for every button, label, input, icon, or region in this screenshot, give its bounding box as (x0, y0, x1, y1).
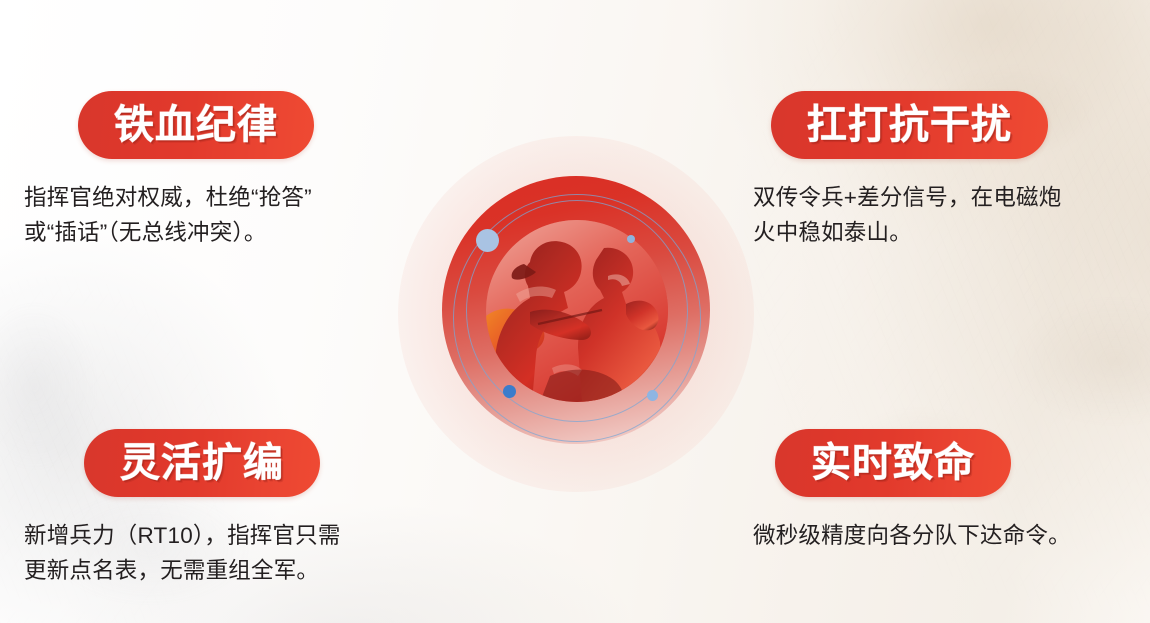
orbit-node-bottom-left (503, 385, 516, 398)
badge-realtime-lethality[interactable]: 实时致命 (775, 429, 1011, 497)
description-bottom-right: 微秒级精度向各分队下达命令。 (753, 519, 1071, 554)
center-graphic (398, 136, 754, 492)
infographic-canvas: 铁血纪律 指挥官绝对权威，杜绝“抢答” 或“插话”（无总线冲突）。 扛打抗干扰 … (0, 0, 1150, 623)
description-line: 新增兵力（RT10），指挥官只需 (24, 519, 341, 554)
feature-block-bottom-right: 实时致命 微秒级精度向各分队下达命令。 (753, 429, 1071, 554)
description-line: 双传令兵+差分信号，在电磁炮 (753, 181, 1061, 216)
badge-iron-discipline[interactable]: 铁血纪律 (78, 91, 314, 159)
badge-interference-resistance[interactable]: 扛打抗干扰 (771, 91, 1048, 159)
badge-label: 灵活扩编 (120, 443, 284, 483)
orbit-node-bottom-right (647, 390, 658, 401)
description-line: 指挥官绝对权威，杜绝“抢答” (24, 181, 314, 216)
description-top-right: 双传令兵+差分信号，在电磁炮 火中稳如泰山。 (753, 181, 1061, 251)
badge-label: 扛打抗干扰 (807, 105, 1012, 145)
badge-label: 铁血纪律 (114, 105, 278, 145)
description-top-left: 指挥官绝对权威，杜绝“抢答” 或“插话”（无总线冲突）。 (24, 181, 314, 251)
badge-label: 实时致命 (811, 443, 975, 483)
orbit-node-top-left (476, 229, 499, 252)
orbit-node-top-right (627, 235, 635, 243)
description-bottom-left: 新增兵力（RT10），指挥官只需 更新点名表，无需重组全军。 (24, 519, 341, 589)
feature-block-top-left: 铁血纪律 指挥官绝对权威，杜绝“抢答” 或“插话”（无总线冲突）。 (24, 91, 314, 251)
description-line: 或“插话”（无总线冲突）。 (24, 216, 314, 251)
description-line: 火中稳如泰山。 (753, 216, 1061, 251)
feature-block-top-right: 扛打抗干扰 双传令兵+差分信号，在电磁炮 火中稳如泰山。 (753, 91, 1061, 251)
feature-block-bottom-left: 灵活扩编 新增兵力（RT10），指挥官只需 更新点名表，无需重组全军。 (24, 429, 341, 589)
description-line: 微秒级精度向各分队下达命令。 (753, 519, 1071, 554)
badge-flexible-expansion[interactable]: 灵活扩编 (84, 429, 320, 497)
description-line: 更新点名表，无需重组全军。 (24, 554, 341, 589)
